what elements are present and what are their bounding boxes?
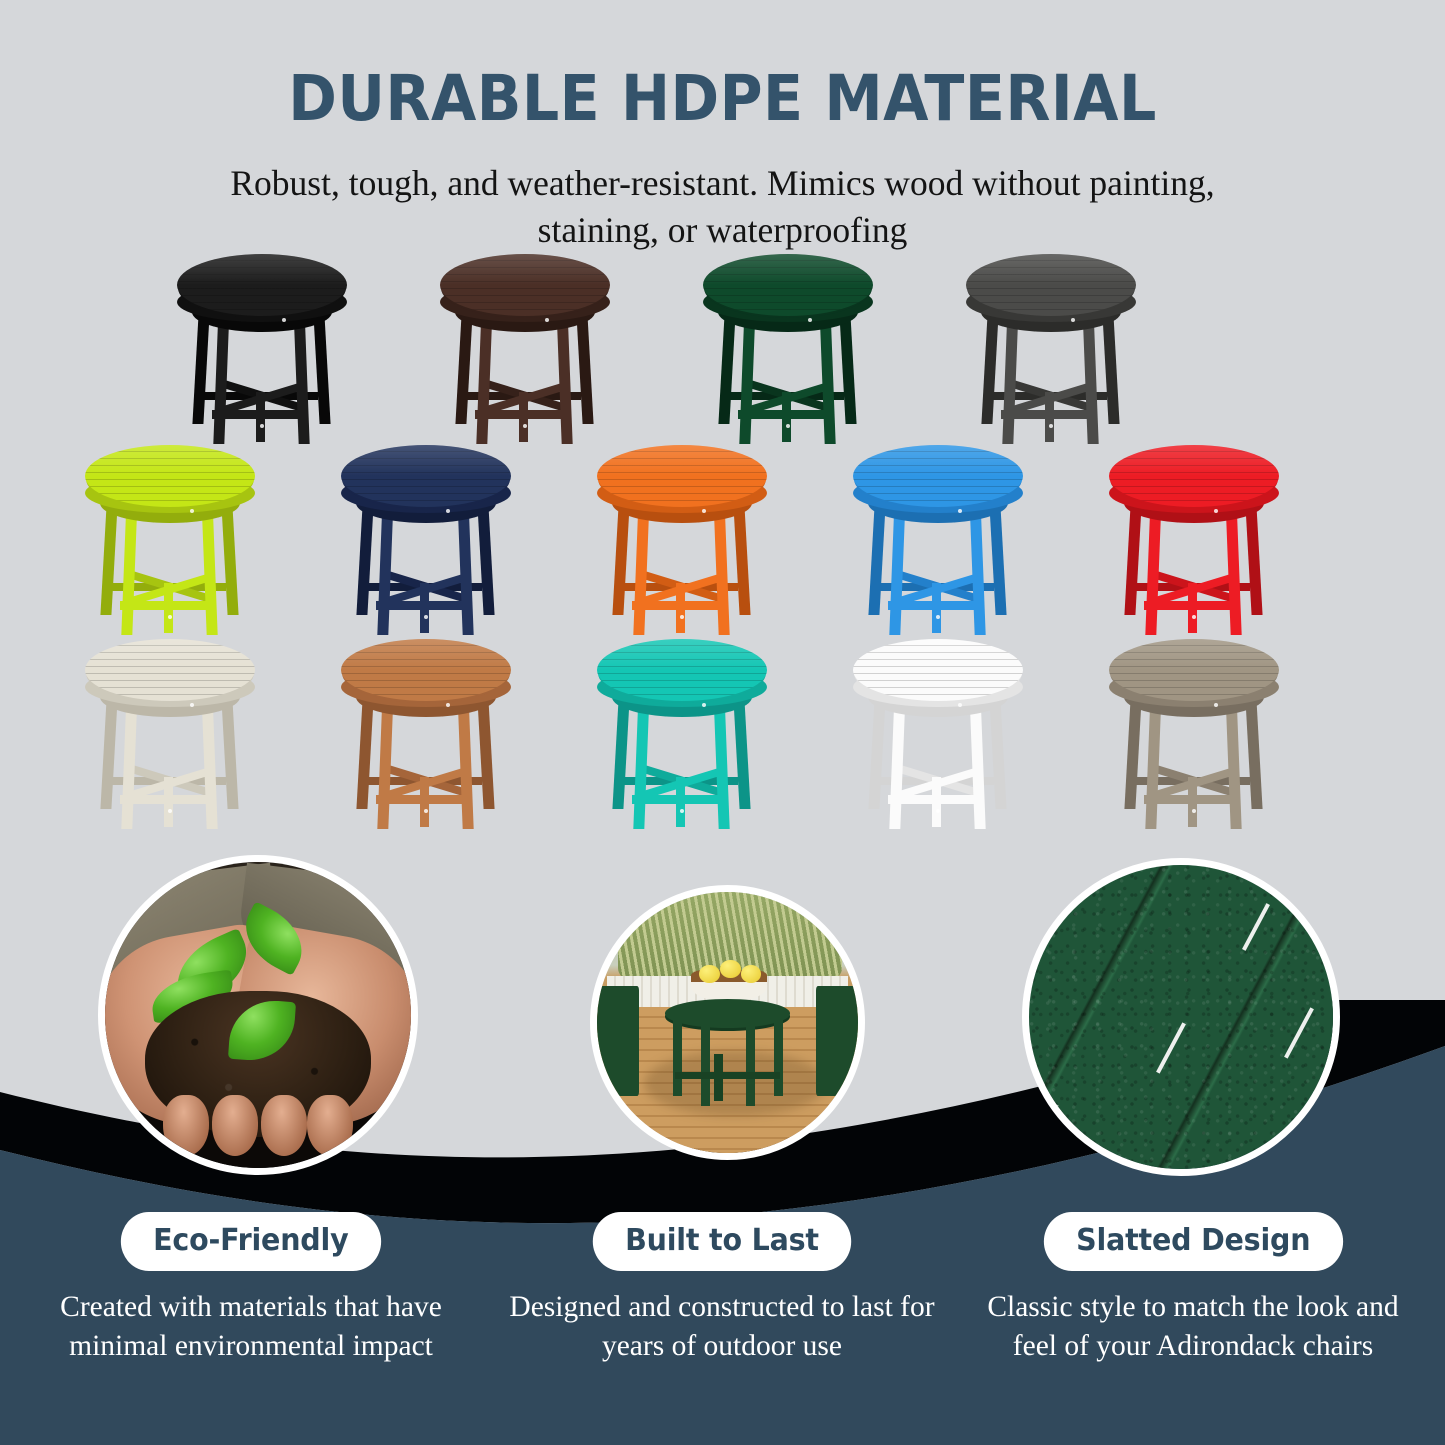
table-screw-lower — [1049, 424, 1053, 428]
table-screw-lower — [936, 809, 940, 813]
table-screw-lower — [680, 809, 684, 813]
product-swatch-lime-green[interactable] — [72, 443, 268, 639]
table-stretcher-front — [632, 795, 724, 804]
table-stretcher-front — [120, 795, 212, 804]
page-title: DURABLE HDPE MATERIAL — [51, 62, 1395, 135]
photo-eco-friendly — [98, 855, 418, 1175]
table-screw-upper — [1214, 509, 1218, 513]
table-screw-lower — [424, 809, 428, 813]
table-top-slats — [341, 445, 511, 507]
table-screw-lower — [1192, 615, 1196, 619]
feature-text-eco-friendly: Created with materials that have minimal… — [36, 1288, 466, 1366]
table-screw-upper — [545, 318, 549, 322]
table-stretcher-front — [632, 601, 724, 610]
product-swatch-navy-blue[interactable] — [328, 443, 524, 639]
table-stretcher-front — [888, 795, 980, 804]
table-top-slats — [1109, 445, 1279, 507]
feature-eco-friendly: Eco-Friendly Created with materials that… — [36, 1212, 466, 1366]
table-screw-upper — [702, 703, 706, 707]
table-top-slats — [597, 639, 767, 701]
page-subtitle: Robust, tough, and weather-resistant. Mi… — [170, 160, 1275, 253]
table-screw-lower — [168, 615, 172, 619]
table-stretcher-front — [888, 601, 980, 610]
table-top-slats — [85, 445, 255, 507]
table-screw-upper — [282, 318, 286, 322]
table-top-slats — [177, 254, 347, 316]
table-stretcher-front — [1144, 795, 1236, 804]
table-top-slats — [440, 254, 610, 316]
table-screw-upper — [190, 509, 194, 513]
product-swatch-orange[interactable] — [584, 443, 780, 639]
feature-text-slatted-design: Classic style to match the look and feel… — [978, 1288, 1408, 1366]
table-screw-lower — [523, 424, 527, 428]
table-top-slats — [85, 639, 255, 701]
table-stretcher-front — [1144, 601, 1236, 610]
table-top-slats — [341, 639, 511, 701]
product-swatch-teak[interactable] — [328, 637, 524, 833]
photo-slatted-design — [1022, 858, 1340, 1176]
table-top-slats — [853, 639, 1023, 701]
table-screw-lower — [424, 615, 428, 619]
table-screw-lower — [1192, 809, 1196, 813]
table-screw-upper — [958, 703, 962, 707]
product-swatch-dark-green[interactable] — [690, 252, 886, 448]
feature-built-to-last: Built to Last Designed and constructed t… — [507, 1212, 937, 1366]
table-screw-upper — [958, 509, 962, 513]
swatch-row-2 — [0, 443, 1445, 639]
table-screw-lower — [260, 424, 264, 428]
product-swatch-ivory[interactable] — [72, 637, 268, 833]
product-swatch-light-blue[interactable] — [840, 443, 1036, 639]
table-stretcher-front — [1001, 410, 1093, 419]
table-stretcher-front — [120, 601, 212, 610]
table-screw-upper — [446, 509, 450, 513]
feature-slatted-design: Slatted Design Classic style to match th… — [978, 1212, 1408, 1366]
table-screw-lower — [936, 615, 940, 619]
table-top-slats — [703, 254, 873, 316]
table-screw-upper — [1071, 318, 1075, 322]
product-swatch-dark-gray[interactable] — [953, 252, 1149, 448]
table-screw-upper — [190, 703, 194, 707]
table-stretcher-front — [738, 410, 830, 419]
product-swatch-weathered-wood[interactable] — [1096, 637, 1292, 833]
table-screw-upper — [446, 703, 450, 707]
swatch-row-1 — [0, 252, 1445, 448]
product-swatch-dark-brown[interactable] — [427, 252, 623, 448]
table-top-slats — [966, 254, 1136, 316]
table-stretcher-front — [212, 410, 304, 419]
badge-eco-friendly: Eco-Friendly — [121, 1212, 381, 1271]
table-top-slats — [853, 445, 1023, 507]
table-top-slats — [1109, 639, 1279, 701]
table-stretcher-front — [376, 795, 468, 804]
table-top-slats — [597, 445, 767, 507]
badge-slatted-design: Slatted Design — [1044, 1212, 1343, 1271]
product-swatch-white[interactable] — [840, 637, 1036, 833]
table-screw-lower — [680, 615, 684, 619]
table-screw-lower — [168, 809, 172, 813]
table-screw-upper — [808, 318, 812, 322]
product-swatch-red[interactable] — [1096, 443, 1292, 639]
table-stretcher-front — [376, 601, 468, 610]
table-screw-upper — [702, 509, 706, 513]
table-stretcher-front — [475, 410, 567, 419]
photo-built-to-last — [590, 885, 865, 1160]
swatch-row-3 — [0, 637, 1445, 833]
badge-built-to-last: Built to Last — [593, 1212, 851, 1271]
product-swatch-turquoise[interactable] — [584, 637, 780, 833]
feature-text-built-to-last: Designed and constructed to last for yea… — [507, 1288, 937, 1366]
table-screw-lower — [786, 424, 790, 428]
table-screw-upper — [1214, 703, 1218, 707]
product-swatch-black[interactable] — [164, 252, 360, 448]
